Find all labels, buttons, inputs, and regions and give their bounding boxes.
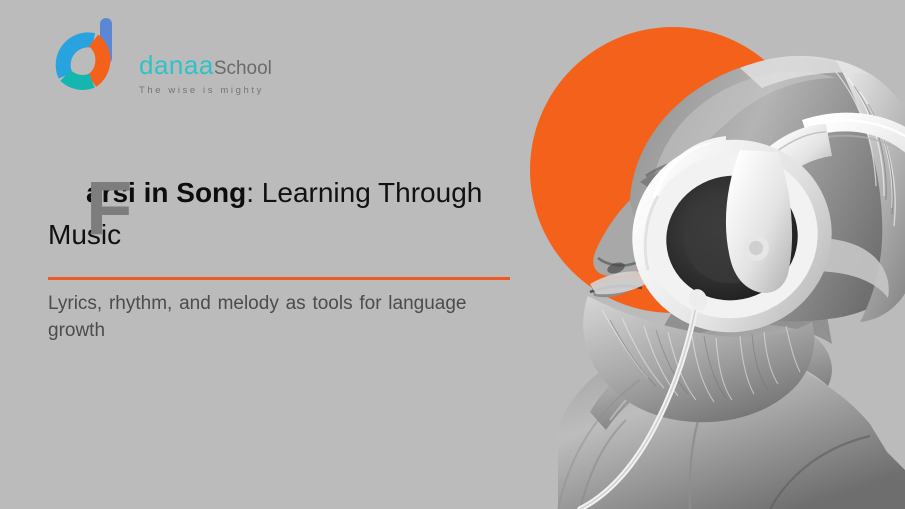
- logo-tagline: The wise is mighty: [139, 85, 304, 96]
- logo-text-block: danaaSchool The wise is mighty: [139, 52, 304, 96]
- presentation-slide: danaaSchool The wise is mighty Farsi in …: [0, 0, 905, 509]
- headline-dropcap: F: [48, 178, 130, 240]
- logo-word-school: School: [214, 58, 272, 79]
- hero-artwork: [440, 0, 905, 509]
- brand-logo[interactable]: danaaSchool The wise is mighty: [44, 16, 304, 100]
- elderly-man-with-headphones-photo: [440, 0, 905, 509]
- danaa-d-ring-icon: [44, 16, 126, 98]
- logo-wordmark: danaaSchool: [139, 52, 304, 82]
- logo-word-danaa: danaa: [139, 50, 214, 80]
